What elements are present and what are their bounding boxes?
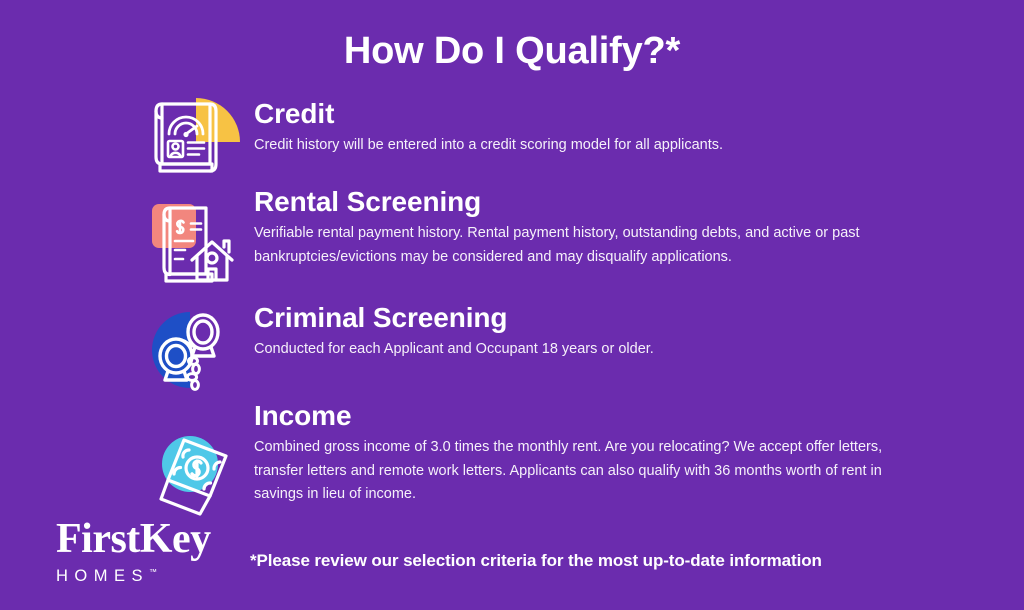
firstkey-homes-logo: FirstKey HOMES™ <box>56 518 256 594</box>
section-heading-credit: Credit <box>254 98 723 129</box>
credit-report-icon <box>148 96 244 176</box>
logo-wordmark: FirstKey <box>56 518 256 560</box>
section-text-criminal: Conducted for each Applicant and Occupan… <box>254 338 654 361</box>
income-body: Income Combined gross income of 3.0 time… <box>244 400 914 507</box>
section-heading-criminal: Criminal Screening <box>254 302 654 333</box>
rent-receipt-house-icon <box>148 200 244 292</box>
section-credit: Credit Credit history will be entered in… <box>148 96 723 176</box>
section-text-credit: Credit history will be entered into a cr… <box>254 134 723 157</box>
page-title: How Do I Qualify?* <box>0 30 1024 73</box>
handcuffs-icon <box>148 308 244 392</box>
section-rental: Rental Screening Verifiable rental payme… <box>148 186 914 292</box>
section-criminal: Criminal Screening Conducted for each Ap… <box>148 302 654 392</box>
rental-body: Rental Screening Verifiable rental payme… <box>244 186 914 269</box>
credit-body: Credit Credit history will be entered in… <box>244 96 723 158</box>
section-income: Income Combined gross income of 3.0 time… <box>148 400 914 522</box>
section-text-rental: Verifiable rental payment history. Renta… <box>254 222 914 269</box>
section-heading-rental: Rental Screening <box>254 186 914 217</box>
qualification-infographic: How Do I Qualify?* <box>0 0 1024 610</box>
logo-subtitle-text: HOMES <box>56 567 149 585</box>
logo-subtitle: HOMES™ <box>56 567 256 586</box>
trademark-icon: ™ <box>149 568 157 577</box>
section-text-income: Combined gross income of 3.0 times the m… <box>254 436 914 506</box>
cash-banknotes-icon <box>148 426 244 522</box>
section-heading-income: Income <box>254 400 914 431</box>
criminal-body: Criminal Screening Conducted for each Ap… <box>244 302 654 362</box>
footnote-text: *Please review our selection criteria fo… <box>250 551 822 571</box>
